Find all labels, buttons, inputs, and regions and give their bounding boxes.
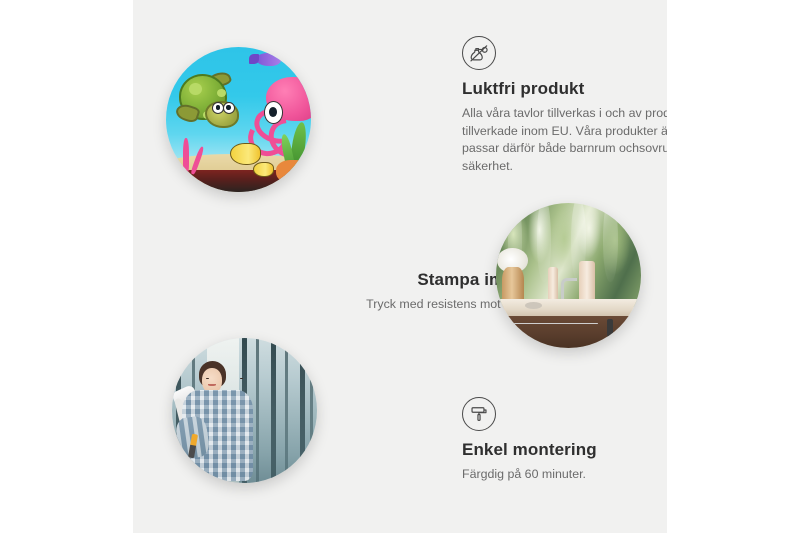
feature-title: Luktfri produkt <box>462 79 667 99</box>
bathroom-tropical-wallpaper-photo <box>496 203 641 348</box>
woman-figure <box>181 361 271 483</box>
sea-turtle <box>176 72 243 130</box>
bathroom-bottle <box>548 267 558 302</box>
yellow-fish-large <box>230 143 261 165</box>
pink-coral <box>166 125 215 174</box>
letterbox-left <box>0 0 133 533</box>
octopus-eye <box>264 101 283 124</box>
woman-paint-roller-forest-photo <box>172 338 317 483</box>
icon-wrap <box>462 36 667 70</box>
tree-trunk <box>300 338 305 483</box>
content-panel: Luktfri produkt Alla våra tavlor tillver… <box>133 0 667 533</box>
feature-title: Enkel montering <box>462 440 667 460</box>
coral-branch <box>190 146 205 175</box>
forest-scene <box>172 338 317 483</box>
icon-wrap <box>462 397 667 431</box>
starfish <box>276 160 308 183</box>
wooden-vanity-cabinet <box>502 316 641 348</box>
no-smell-icon <box>462 36 496 70</box>
soap-dish <box>525 302 542 309</box>
purple-fish <box>256 53 281 66</box>
tree-trunk <box>310 338 313 483</box>
letterbox-right <box>667 0 800 533</box>
feature-block-easy-install: Enkel montering Färgdig på 60 minuter. <box>462 397 667 484</box>
yellow-fish-small <box>253 162 274 177</box>
turtle-eye-right <box>223 102 235 114</box>
paint-roller-icon <box>462 397 496 431</box>
page-root: Luktfri produkt Alla våra tavlor tillver… <box>0 0 800 533</box>
leaf-highlight <box>603 203 618 282</box>
tree-trunk <box>285 338 288 483</box>
feature-body: Färgdig på 60 minuter. <box>462 466 667 484</box>
underwater-scene <box>166 47 311 192</box>
woman-face <box>202 368 222 392</box>
bathroom-scene <box>496 203 641 348</box>
coral-branch <box>183 138 189 174</box>
feature-block-odourless: Luktfri produkt Alla våra tavlor tillver… <box>462 36 667 175</box>
tree-trunk <box>271 338 276 483</box>
vanity-countertop <box>496 299 641 318</box>
underwater-cartoon-photo <box>166 47 311 192</box>
feature-body: Alla våra tavlor tillverkas i och av pro… <box>462 105 667 175</box>
